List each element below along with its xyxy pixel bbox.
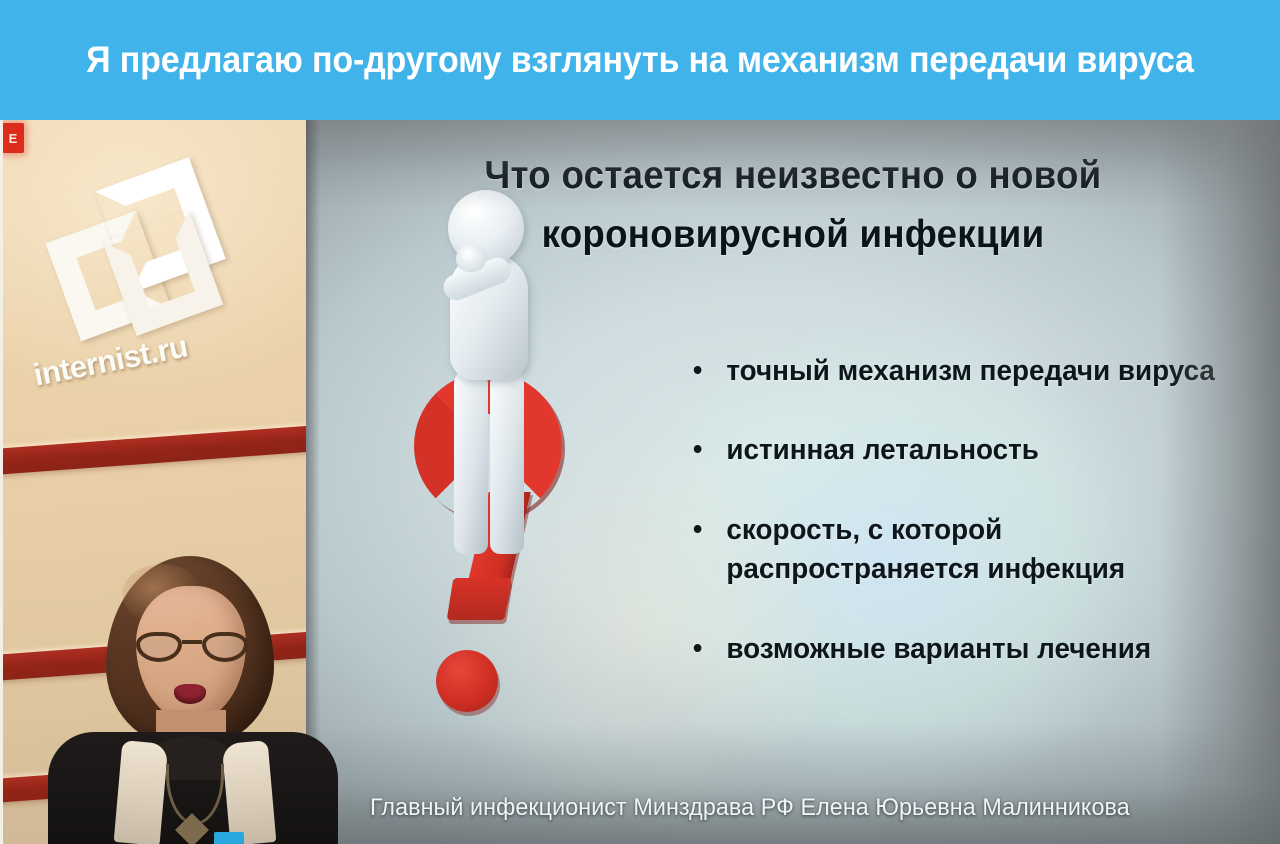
photo-left-edge-sliver: [0, 120, 3, 844]
figure-left-leg: [454, 368, 488, 554]
screenshot-root: Я предлагаю по-другому взглянуть на меха…: [0, 0, 1280, 844]
glasses-bridge: [182, 640, 202, 644]
glasses-icon: [136, 632, 248, 664]
bullet-text: возможные варианты лечения: [726, 633, 1151, 665]
projection-slide: Что остается неизвестно о новой коронови…: [306, 120, 1280, 844]
internist-logo: internist.ru: [30, 178, 262, 418]
presenter-figure: [48, 550, 338, 844]
bullet-text: истинная летальность: [726, 434, 1038, 466]
figure-hand: [456, 244, 486, 272]
header-title: Я предлагаю по-другому взглянуть на меха…: [86, 41, 1194, 80]
bullet-text: скорость, с которой распространяется инф…: [726, 514, 1125, 585]
question-mark-dot: [436, 650, 498, 712]
video-still-photo: Е internist.ru: [0, 120, 1280, 844]
figure-right-leg: [490, 368, 524, 554]
presenter-caption: Главный инфекционист Минздрава РФ Елена …: [370, 794, 1224, 822]
bullet-text: точный механизм передачи вируса: [726, 355, 1215, 387]
glasses-right-lens: [202, 632, 248, 662]
header-banner: Я предлагаю по-другому взглянуть на меха…: [0, 0, 1280, 120]
glasses-left-lens: [136, 632, 182, 662]
corner-badge-icon: Е: [2, 123, 24, 153]
presenter-blue-badge: [214, 832, 244, 844]
bullet-dot-icon: [694, 366, 702, 374]
bullet-dot-icon: [694, 445, 702, 453]
wall-red-stripe: [0, 421, 330, 478]
presenter-scarf-left: [114, 740, 169, 844]
presenter-scarf-right: [222, 740, 277, 844]
slide-top-vignette: [306, 120, 1280, 210]
bullet-dot-icon: [694, 525, 702, 533]
slide-bottom-vignette: [306, 724, 1280, 844]
thinking-person-3d-figure-icon: [428, 190, 568, 560]
question-mark-stem-base: [447, 578, 512, 620]
bullet-dot-icon: [694, 644, 702, 652]
